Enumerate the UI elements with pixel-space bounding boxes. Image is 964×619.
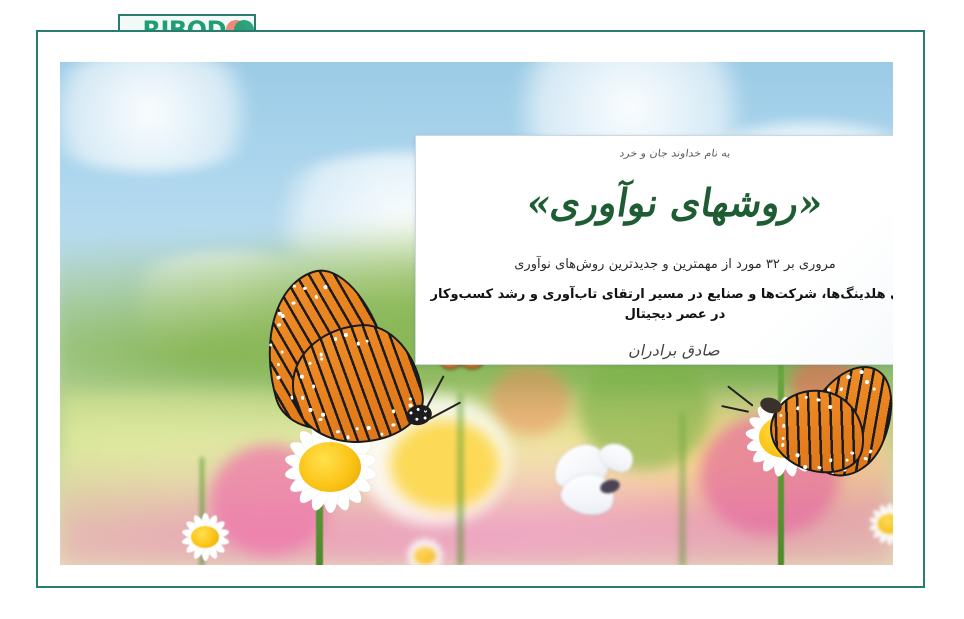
flower-stem bbox=[680, 412, 685, 565]
daisy-core bbox=[191, 526, 219, 548]
page-title: «روشهای نوآوری» bbox=[413, 181, 893, 225]
hero-photo: به نام خداوند جان و خرد «روشهای نوآوری» … bbox=[60, 62, 893, 565]
bokeh-blob-orange bbox=[490, 365, 570, 435]
author-signature: صادق برادران bbox=[414, 342, 893, 360]
daisy-core bbox=[414, 547, 436, 565]
title-card: به نام خداوند جان و خرد «روشهای نوآوری» … bbox=[415, 135, 893, 365]
white-butterfly-icon bbox=[552, 440, 644, 520]
bismillah-text: به نام خداوند جان و خرد bbox=[415, 148, 893, 158]
subtitle-line-1: مروری بر ۳۲ مورد از مهمترین و جدیدترین ر… bbox=[416, 255, 893, 275]
monarch-butterfly-icon bbox=[744, 362, 893, 492]
subtitle-line-2: برای هلدینگ‌ها، شرکت‌ها و صنایع در مسیر … bbox=[416, 285, 893, 324]
